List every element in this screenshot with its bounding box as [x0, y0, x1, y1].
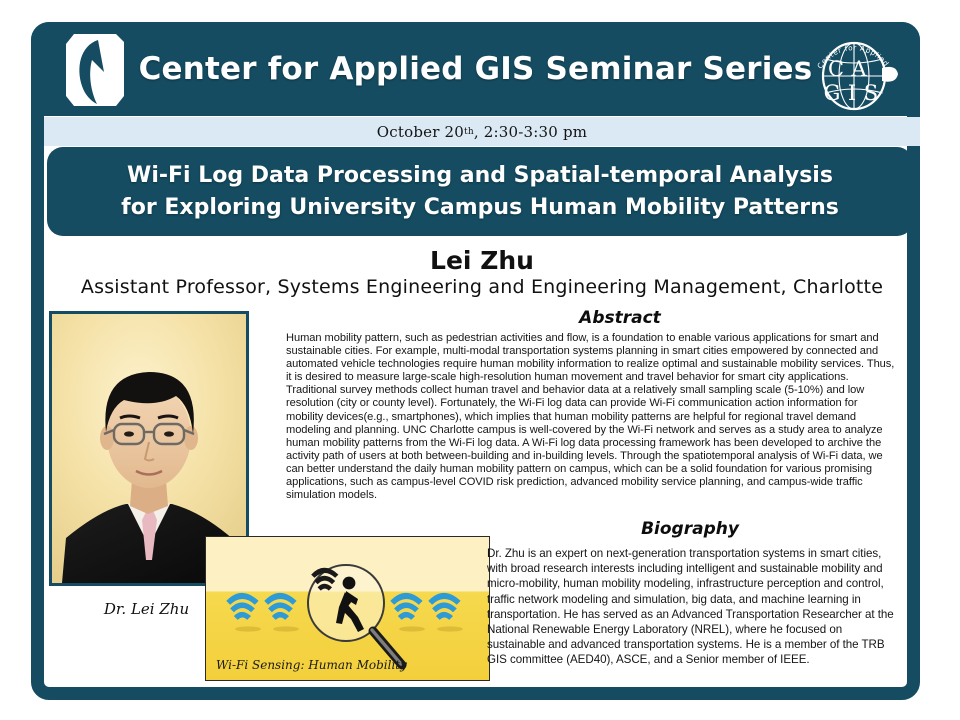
seminar-date-bar: October 20th, 2:30-3:30 pm	[44, 117, 920, 146]
wifi-figure-caption: Wi-Fi Sensing: Human Mobility	[216, 658, 407, 672]
date-month-day: October 20	[377, 123, 464, 141]
speaker-affiliation: Assistant Professor, Systems Engineering…	[44, 276, 920, 298]
svg-text:I: I	[848, 81, 856, 105]
svg-text:C: C	[828, 57, 844, 81]
svg-text:S: S	[864, 81, 878, 105]
cagis-globe-logo: Center for Applied GIScience C A G I S	[806, 24, 902, 116]
abstract-heading: Abstract	[340, 308, 900, 328]
seminar-poster: Center for Applied GIS Seminar Series Ce…	[0, 0, 960, 720]
date-time: , 2:30-3:30 pm	[474, 123, 587, 141]
wifi-signal-icon	[226, 593, 258, 620]
talk-title-line-2: for Exploring University Campus Human Mo…	[121, 192, 839, 223]
talk-title-line-1: Wi-Fi Log Data Processing and Spatial-te…	[127, 160, 833, 191]
biography-text: Dr. Zhu is an expert on next-generation …	[487, 546, 895, 668]
header-band: Center for Applied GIS Seminar Series Ce…	[31, 22, 920, 116]
talk-title-panel: Wi-Fi Log Data Processing and Spatial-te…	[47, 147, 913, 236]
svg-text:A: A	[850, 57, 867, 81]
wifi-signal-icon	[390, 593, 422, 620]
page-title: Center for Applied GIS Seminar Series	[31, 22, 920, 116]
biography-heading: Biography	[480, 519, 900, 539]
wifi-sensing-figure: Wi-Fi Sensing: Human Mobility	[205, 536, 490, 681]
abstract-text: Human mobility pattern, such as pedestri…	[286, 332, 896, 502]
speaker-name: Lei Zhu	[44, 246, 920, 275]
wifi-signal-icon	[428, 593, 460, 620]
date-ordinal: th	[464, 127, 474, 137]
svg-text:G: G	[824, 81, 841, 105]
wifi-signal-icon	[264, 593, 296, 620]
